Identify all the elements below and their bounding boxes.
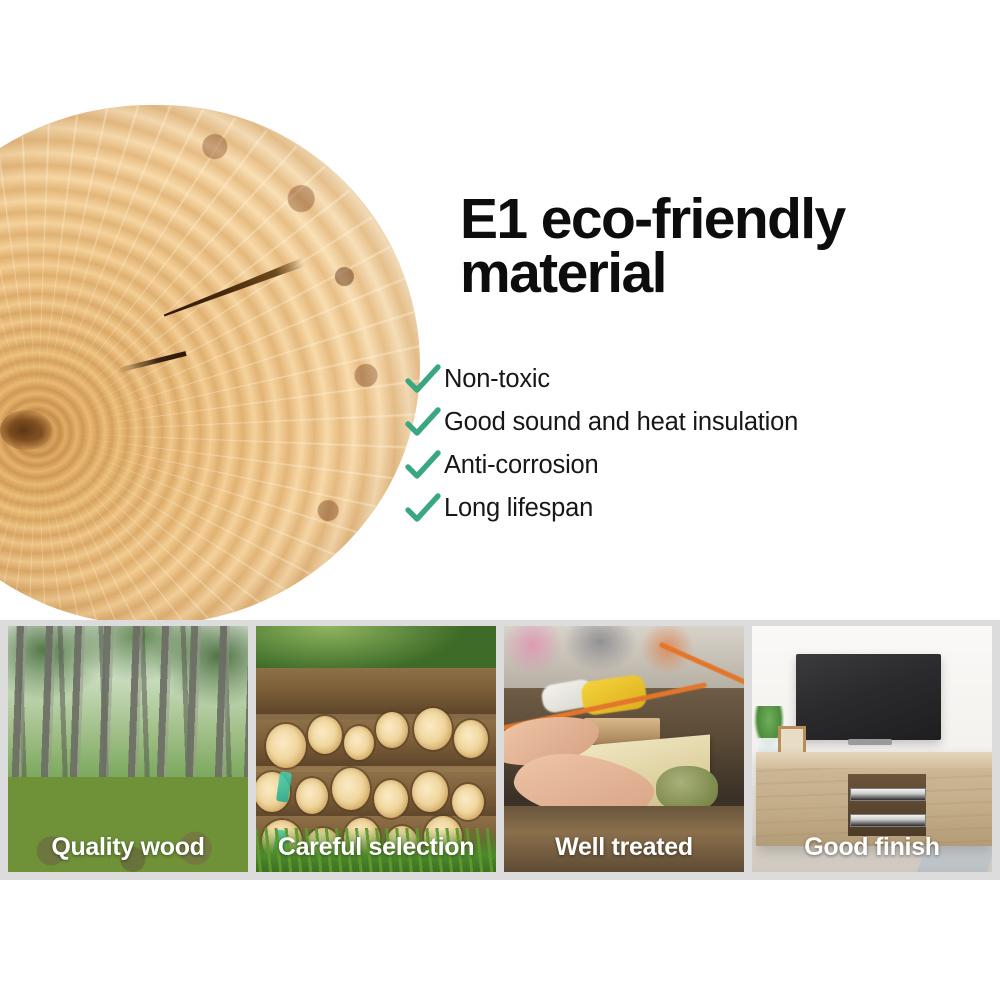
wood-disc: [0, 105, 420, 630]
page-title: E1 eco-friendly material: [460, 193, 980, 300]
gallery-caption: Good finish: [752, 833, 992, 862]
feature-item-insulation: Good sound and heat insulation: [404, 401, 964, 444]
hero-wood-cross-section-image: [0, 105, 420, 630]
feature-item-non-toxic: Non-toxic: [404, 358, 964, 401]
headline-line-2: material: [460, 247, 980, 301]
check-icon: [404, 407, 444, 439]
cabinet-top-surface: [756, 752, 992, 768]
tv-cabinet: [756, 752, 992, 846]
tv-stand-foot: [848, 739, 892, 745]
gallery-tile-well-treated: Well treated: [504, 626, 744, 872]
feature-item-anti-corrosion: Anti-corrosion: [404, 444, 964, 487]
feature-label: Anti-corrosion: [444, 451, 599, 480]
check-icon: [404, 450, 444, 482]
pith-center: [0, 410, 52, 450]
gallery-tile-good-finish: Good finish: [752, 626, 992, 872]
check-icon: [404, 493, 444, 525]
gallery-strip: Quality wood: [0, 620, 1000, 880]
feature-label: Non-toxic: [444, 365, 550, 394]
feature-label: Good sound and heat insulation: [444, 408, 798, 437]
gallery-tile-quality-wood: Quality wood: [8, 626, 248, 872]
media-device-top: [850, 788, 926, 801]
media-device-bottom: [850, 814, 926, 827]
log-stack: [256, 668, 496, 836]
gallery-tile-careful-selection: Careful selection: [256, 626, 496, 872]
product-feature-banner: E1 eco-friendly material Non-toxic Good …: [0, 0, 1000, 1000]
television: [796, 654, 941, 740]
check-icon: [404, 364, 444, 396]
gallery-caption: Well treated: [504, 833, 744, 862]
feature-label: Long lifespan: [444, 494, 593, 523]
bark-texture: [0, 105, 420, 625]
gallery-caption: Careful selection: [256, 833, 496, 862]
gallery-tiles: Quality wood: [8, 626, 992, 872]
feature-item-long-lifespan: Long lifespan: [404, 487, 964, 530]
gallery-caption: Quality wood: [8, 833, 248, 862]
feature-list: Non-toxic Good sound and heat insulation…: [404, 358, 964, 530]
